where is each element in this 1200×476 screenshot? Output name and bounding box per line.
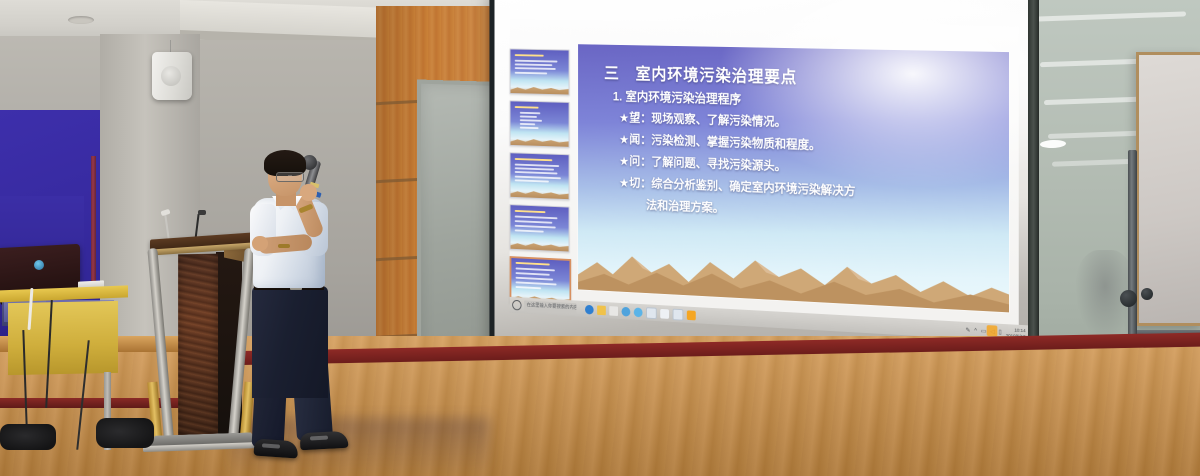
star-bullet-icon: ★	[620, 156, 629, 168]
whiteboard-adjust-knob[interactable]	[1141, 288, 1153, 300]
notes-icon[interactable]	[687, 310, 696, 320]
media-icon[interactable]	[673, 308, 684, 320]
slide-thumb-3[interactable]	[510, 152, 570, 200]
taskbar-pinned-icons	[585, 303, 696, 321]
pen-icon[interactable]: ✎	[966, 327, 971, 334]
presenter-shoe-right	[300, 431, 349, 450]
word-icon[interactable]	[660, 308, 669, 318]
star-bullet-icon: ★	[620, 134, 629, 146]
presenter-wristband	[278, 244, 290, 248]
edge-icon[interactable]	[585, 304, 594, 314]
slide-subtitle: 1. 室内环境污染治理程序	[613, 86, 741, 107]
show-hidden-icons[interactable]: ^	[974, 328, 977, 334]
network-icon[interactable]: ▭	[981, 328, 986, 335]
battery-icon[interactable]: ▯	[999, 329, 1002, 336]
eyeglasses-bridge	[288, 175, 292, 176]
lectern-mic-head-icon	[198, 210, 206, 215]
powerpoint-window: 三 室内环境污染治理要点 1. 室内环境污染治理程序 ★望：现场观察、了解污染情…	[510, 19, 1019, 325]
ceiling-downlight	[68, 16, 94, 24]
slide-bullet-list: ★望：现场观察、了解污染情况。 ★闻：污染检测、掌握污染物质和程度。 ★问：了解…	[620, 107, 998, 230]
slide-thumb-1[interactable]	[510, 49, 570, 96]
presenter-hand-left	[252, 236, 268, 251]
whiteboard-on-stand	[1136, 52, 1200, 326]
search-input[interactable]: 在这里输入你要搜索的内容	[524, 300, 576, 313]
slide-navigation-pane[interactable]	[510, 49, 572, 284]
slide-thumb-4[interactable]	[510, 204, 570, 252]
slide-bullet-text: 问：了解问题、寻找污染源头。	[629, 154, 786, 173]
star-bullet-icon: ★	[620, 178, 629, 190]
presenter-hand-right	[300, 184, 317, 201]
star-bullet-icon: ★	[620, 113, 629, 125]
store-icon[interactable]	[609, 306, 618, 316]
browser-icon[interactable]	[634, 307, 643, 317]
slide-title: 三 室内环境污染治理要点	[604, 60, 797, 88]
equipment-pile	[96, 418, 154, 448]
eyeglasses-icon	[276, 172, 304, 182]
projection-screen-assembly: 三 室内环境污染治理要点 1. 室内环境污染治理程序 ★望：现场观察、了解污染情…	[489, 0, 1058, 394]
whiteboard-adjust-knob[interactable]	[1120, 290, 1137, 307]
slide-thumb-2[interactable]	[510, 100, 570, 147]
presenter-trousers	[252, 286, 328, 398]
desert-dune-graphic	[578, 235, 1009, 312]
lectern-front-panel	[178, 254, 218, 437]
pa-speaker-icon	[152, 52, 192, 100]
taskbar-left-group: 在这里输入你要搜索的内容	[510, 300, 577, 314]
start-button-icon[interactable]	[512, 300, 521, 311]
taskbar-notification-badge	[987, 325, 998, 336]
slide-bullet-text: 望：现场观察、了解污染情况。	[629, 111, 786, 129]
lecture-hall-photo: 三 室内环境污染治理要点 1. 室内环境污染治理程序 ★望：现场观察、了解污染情…	[0, 0, 1200, 476]
equipment-pile	[0, 424, 56, 450]
file-explorer-icon[interactable]	[597, 305, 606, 315]
laptop-logo-icon	[34, 260, 44, 270]
wall-pipe	[91, 156, 96, 286]
lectern-panel-texture	[178, 254, 218, 437]
current-slide[interactable]: 三 室内环境污染治理要点 1. 室内环境污染治理程序 ★望：现场观察、了解污染情…	[578, 44, 1009, 312]
slide-bullet-text: 闻：污染检测、掌握污染物质和程度。	[629, 133, 820, 152]
mail-icon[interactable]	[622, 306, 631, 316]
powerpoint-icon[interactable]	[646, 307, 657, 319]
